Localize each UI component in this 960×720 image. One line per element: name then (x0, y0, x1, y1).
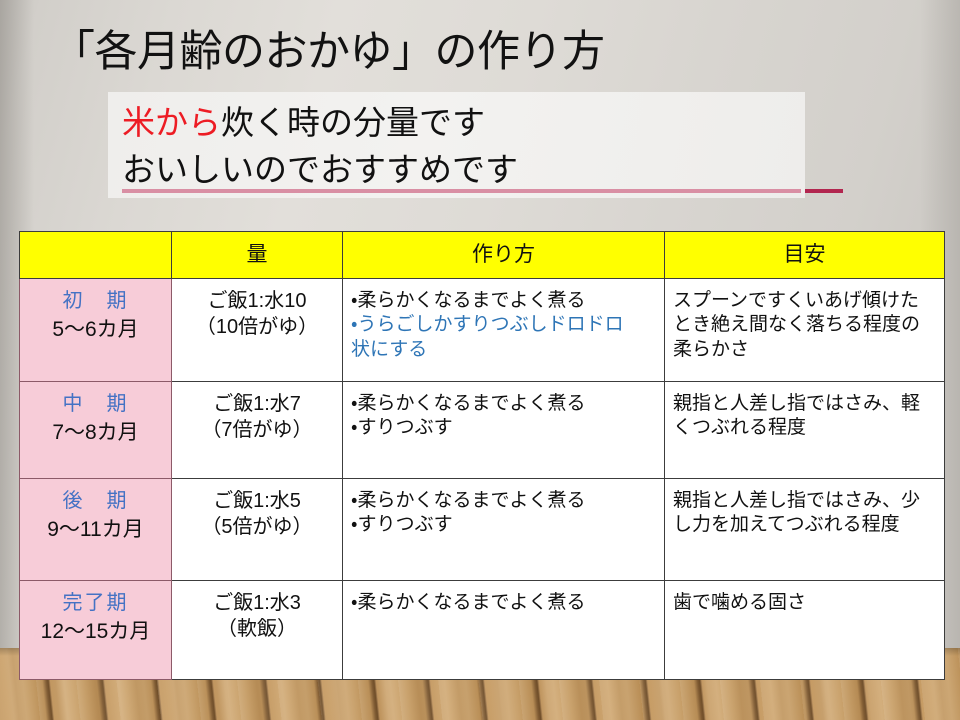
table-header: 量 作り方 目安 (20, 232, 945, 279)
slide-canvas: 「各月齢のおかゆ」の作り方 米から炊く時の分量です おいしいのでおすすめです 量… (0, 0, 960, 720)
table-row: 初 期 5〜6カ月 ご飯1:水10 （10倍がゆ） ・柔らかくなるまでよく煮る … (20, 279, 945, 382)
stage-cell: 後 期 9〜11カ月 (20, 479, 172, 581)
column-header-amount: 量 (172, 232, 343, 279)
subtitle-panel: 米から炊く時の分量です おいしいのでおすすめです (108, 92, 805, 198)
method-cell: ・柔らかくなるまでよく煮る ・すりつぶす (343, 382, 665, 479)
method-cell: ・柔らかくなるまでよく煮る (343, 581, 665, 680)
stage-name: 初 期 (28, 289, 163, 315)
stage-age: 7〜8カ月 (28, 420, 163, 447)
amount-line-1: ご飯1:水3 (180, 591, 334, 617)
subtitle-highlight-text: 米から (122, 104, 221, 141)
column-header-method: 作り方 (343, 232, 665, 279)
stage-name: 後 期 (28, 489, 163, 515)
amount-cell: ご飯1:水5 （5倍がゆ） (172, 479, 343, 581)
subtitle-underline-extension (805, 189, 843, 193)
page-title: 「各月齢のおかゆ」の作り方 (52, 28, 605, 77)
method-cell: ・柔らかくなるまでよく煮る ・うらごしかすりつぶしドロドロ 状にする (343, 279, 665, 382)
column-header-guide: 目安 (665, 232, 945, 279)
guide-cell: 親指と人差し指ではさみ、軽くつぶれる程度 (665, 382, 945, 479)
guide-cell: 親指と人差し指ではさみ、少し力を加えてつぶれる程度 (665, 479, 945, 581)
method-line: ・うらごしかすりつぶしドロドロ (351, 313, 656, 337)
amount-cell: ご飯1:水10 （10倍がゆ） (172, 279, 343, 382)
method-cell: ・柔らかくなるまでよく煮る ・すりつぶす (343, 479, 665, 581)
method-line: ・すりつぶす (351, 416, 656, 440)
stage-name: 中 期 (28, 392, 163, 418)
amount-line-1: ご飯1:水7 (180, 392, 334, 418)
method-line: ・すりつぶす (351, 513, 656, 537)
method-line: ・柔らかくなるまでよく煮る (351, 392, 656, 416)
stage-cell: 初 期 5〜6カ月 (20, 279, 172, 382)
amount-line-2: （軟飯） (180, 617, 334, 643)
table-header-row: 量 作り方 目安 (20, 232, 945, 279)
table-row: 後 期 9〜11カ月 ご飯1:水5 （5倍がゆ） ・柔らかくなるまでよく煮る ・… (20, 479, 945, 581)
subtitle-line-1: 米から炊く時の分量です (122, 106, 485, 139)
method-line: 状にする (351, 338, 656, 362)
amount-line-2: （10倍がゆ） (180, 315, 334, 341)
method-line: ・柔らかくなるまでよく煮る (351, 289, 656, 313)
amount-cell: ご飯1:水7 （7倍がゆ） (172, 382, 343, 479)
amount-cell: ご飯1:水3 （軟飯） (172, 581, 343, 680)
amount-line-1: ご飯1:水5 (180, 489, 334, 515)
column-header-stage (20, 232, 172, 279)
guide-cell: 歯で噛める固さ (665, 581, 945, 680)
stage-cell: 中 期 7〜8カ月 (20, 382, 172, 479)
amount-line-2: （7倍がゆ） (180, 418, 334, 444)
subtitle-underline (122, 189, 801, 193)
guide-cell: スプーンですくいあげ傾けたとき絶え間なく落ちる程度の柔らかさ (665, 279, 945, 382)
subtitle-line-1-rest: 炊く時の分量です (221, 104, 485, 141)
stage-age: 9〜11カ月 (28, 517, 163, 544)
table-row: 完了期 12〜15カ月 ご飯1:水3 （軟飯） ・柔らかくなるまでよく煮る 歯で… (20, 581, 945, 680)
table-body: 初 期 5〜6カ月 ご飯1:水10 （10倍がゆ） ・柔らかくなるまでよく煮る … (20, 279, 945, 680)
table-row: 中 期 7〜8カ月 ご飯1:水7 （7倍がゆ） ・柔らかくなるまでよく煮る ・す… (20, 382, 945, 479)
stage-age: 5〜6カ月 (28, 317, 163, 344)
method-line: ・柔らかくなるまでよく煮る (351, 591, 656, 615)
subtitle-line-2: おいしいのでおすすめです (122, 153, 518, 186)
method-line: ・柔らかくなるまでよく煮る (351, 489, 656, 513)
amount-line-1: ご飯1:水10 (180, 289, 334, 315)
porridge-recipe-table: 量 作り方 目安 初 期 5〜6カ月 ご飯1:水10 （10倍がゆ） ・柔らかく… (19, 231, 945, 680)
amount-line-2: （5倍がゆ） (180, 515, 334, 541)
stage-name: 完了期 (28, 591, 163, 617)
stage-cell: 完了期 12〜15カ月 (20, 581, 172, 680)
stage-age: 12〜15カ月 (28, 619, 163, 646)
